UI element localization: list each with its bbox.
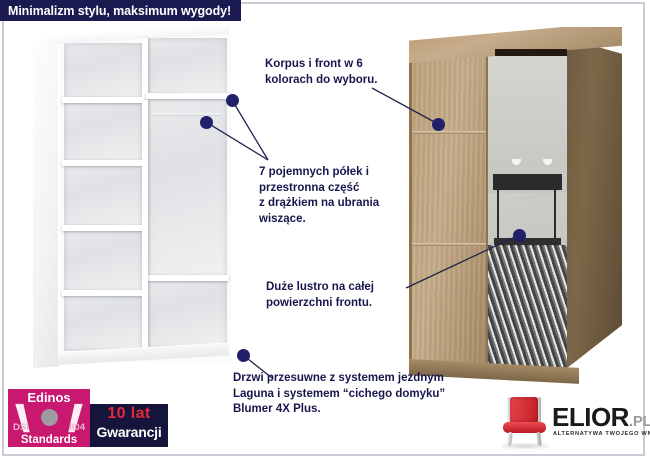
horizontal-shelf bbox=[62, 290, 144, 296]
edinos-circle-icon bbox=[41, 409, 58, 426]
door-divider-strip bbox=[412, 131, 486, 134]
wardrobe-front bbox=[409, 47, 567, 367]
chair-backrest bbox=[510, 397, 538, 422]
wardrobe-carcass bbox=[58, 34, 231, 362]
annotation-colors: Korpus i front w 6 kolorach do wyboru. bbox=[265, 57, 377, 88]
elior-logo[interactable]: ELIOR .PL ALTERNATYWA TWOJEGO WNĘTRZA bbox=[500, 396, 642, 448]
shelf-compartment bbox=[64, 295, 142, 351]
shelf-compartment bbox=[64, 43, 142, 99]
elior-tld: .PL bbox=[629, 413, 650, 430]
mirror-reflection-table-leg bbox=[554, 190, 556, 242]
white-wardrobe-image bbox=[33, 34, 229, 368]
door-top-gap bbox=[495, 49, 567, 56]
oak-mirror-wardrobe-image bbox=[409, 27, 622, 372]
edinos-left-code: DSI bbox=[13, 422, 29, 433]
annotation-doors: Drzwi przesuwne z systemem jezdnym Lagun… bbox=[233, 371, 445, 418]
horizontal-shelf bbox=[62, 97, 144, 103]
vertical-divider bbox=[142, 38, 148, 100]
horizontal-shelf bbox=[62, 160, 144, 166]
warranty-badge: 10 lat Gwarancji bbox=[90, 404, 168, 447]
annotation-shelves: 7 pojemnych półek i przestronna część z … bbox=[259, 165, 379, 227]
callout-dot-shelves-top[interactable] bbox=[226, 94, 239, 107]
callout-dot-colors[interactable] bbox=[432, 118, 445, 131]
shelf-compartment bbox=[148, 280, 227, 348]
annotation-mirror: Duże lustro na całej powierzchni frontu. bbox=[266, 280, 374, 311]
callout-dot-doors[interactable] bbox=[237, 349, 250, 362]
shelf-compartment bbox=[148, 38, 227, 96]
hanging-compartment bbox=[148, 98, 227, 277]
product-infographic: Korpus i front w 6 kolorach do wyboru. 7… bbox=[0, 0, 650, 462]
warranty-label: Gwarancji bbox=[90, 424, 168, 440]
callout-dot-mirror[interactable] bbox=[513, 229, 526, 242]
oak-sliding-door bbox=[412, 47, 486, 367]
headline-banner: Minimalizm stylu, maksimum wygody! bbox=[0, 0, 241, 21]
rail-bracket bbox=[220, 112, 225, 119]
door-divider-strip bbox=[412, 243, 486, 246]
clothes-rail bbox=[152, 113, 224, 116]
mirror-sliding-door bbox=[488, 45, 567, 367]
edinos-standards-badge: Edinos DSI 804 Standards bbox=[8, 389, 90, 447]
edinos-badge-title: Edinos bbox=[8, 390, 90, 405]
horizontal-shelf bbox=[146, 275, 229, 281]
wardrobe-side-panel bbox=[562, 37, 622, 372]
mirror-reflection-rug bbox=[488, 245, 567, 367]
wardrobe-side-panel bbox=[33, 39, 59, 368]
shelf-compartment bbox=[64, 230, 142, 292]
shelf-compartment bbox=[64, 102, 142, 162]
mirror-reflection-wall bbox=[488, 45, 567, 193]
elior-wordmark: ELIOR .PL bbox=[552, 404, 650, 430]
edinos-badge-subtitle: Standards bbox=[8, 434, 90, 446]
chair-shadow bbox=[502, 443, 548, 449]
vertical-divider bbox=[142, 100, 148, 350]
horizontal-shelf bbox=[62, 225, 144, 231]
callout-dot-shelves-rail[interactable] bbox=[200, 116, 213, 129]
mirror-reflection-table bbox=[493, 174, 563, 190]
horizontal-shelf bbox=[146, 93, 229, 99]
shelf-compartment bbox=[64, 165, 142, 227]
mirror-reflection-table-leg bbox=[497, 190, 499, 242]
leader-line-shelves-top bbox=[232, 100, 268, 160]
elior-brand-name: ELIOR bbox=[552, 404, 629, 430]
red-chair-icon bbox=[502, 397, 548, 447]
warranty-years: 10 lat bbox=[90, 405, 168, 423]
elior-tagline: ALTERNATYWA TWOJEGO WNĘTRZA bbox=[553, 431, 650, 437]
edinos-right-code: 804 bbox=[69, 422, 85, 433]
